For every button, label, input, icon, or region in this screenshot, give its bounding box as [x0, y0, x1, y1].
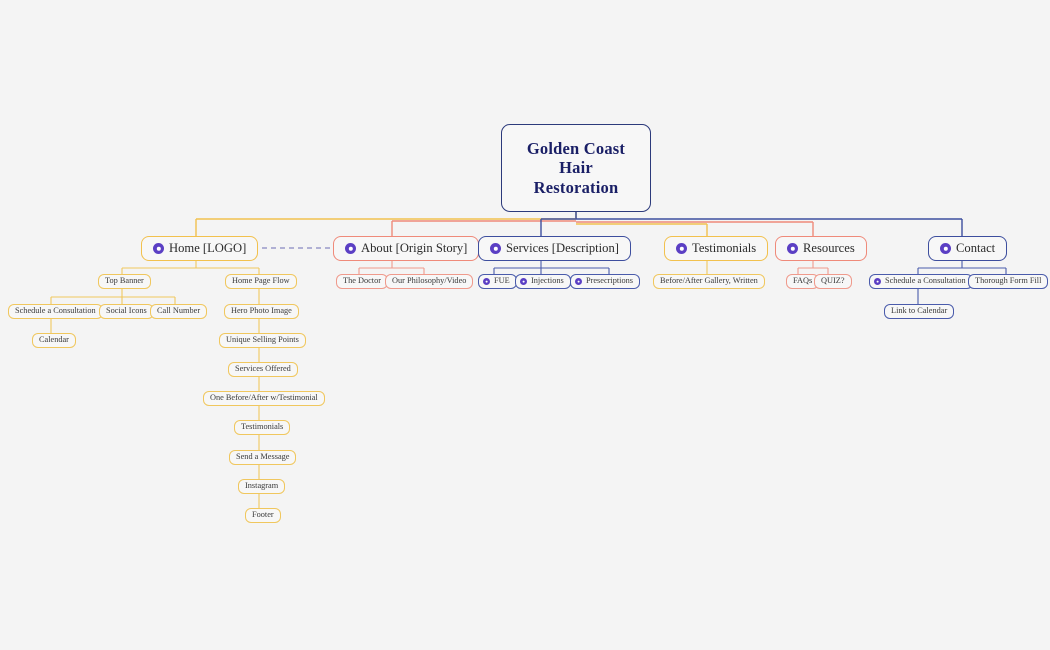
- node-label-testimonials-flow: Testimonials: [241, 423, 283, 432]
- node-footer[interactable]: Footer: [245, 508, 281, 523]
- root-title-line-1: Golden Coast: [527, 140, 625, 157]
- node-label-send-a-message: Send a Message: [236, 453, 289, 462]
- branch-node-contact[interactable]: Contact: [928, 236, 1007, 261]
- branch-node-home[interactable]: Home [LOGO]: [141, 236, 258, 261]
- node-our-philosophy-video[interactable]: Our Philosophy/Video: [385, 274, 473, 289]
- node-social-icons[interactable]: Social Icons: [99, 304, 154, 319]
- node-label-unique-selling-points: Unique Selling Points: [226, 336, 299, 345]
- node-home-page-flow[interactable]: Home Page Flow: [225, 274, 297, 289]
- branch-label-testimonials: Testimonials: [692, 242, 756, 255]
- node-label-quiz: QUIZ?: [821, 277, 845, 286]
- root-title-line-2: Hair: [559, 159, 593, 176]
- node-label-instagram: Instagram: [245, 482, 278, 491]
- branch-label-about: About [Origin Story]: [361, 242, 467, 255]
- node-link-to-calendar[interactable]: Link to Calendar: [884, 304, 954, 319]
- node-injections[interactable]: Injections: [515, 274, 571, 289]
- node-send-a-message[interactable]: Send a Message: [229, 450, 296, 465]
- node-label-services-offered: Services Offered: [235, 365, 291, 374]
- gear-icon: [874, 278, 881, 285]
- node-fue[interactable]: FUE: [478, 274, 517, 289]
- node-instagram[interactable]: Instagram: [238, 479, 285, 494]
- node-schedule-a-consultation-contact[interactable]: Schedule a Consultation: [869, 274, 973, 289]
- branch-label-contact: Contact: [956, 242, 995, 255]
- node-label-one-before-after-with-testimonial: One Before/After w/Testimonial: [210, 394, 318, 403]
- node-label-schedule-a-consultation-home: Schedule a Consultation: [15, 307, 96, 316]
- node-label-faqs: FAQs: [793, 277, 812, 286]
- node-label-our-philosophy-video: Our Philosophy/Video: [392, 277, 466, 286]
- node-schedule-a-consultation-home[interactable]: Schedule a Consultation: [8, 304, 103, 319]
- branch-label-home: Home [LOGO]: [169, 242, 246, 255]
- node-label-top-banner: Top Banner: [105, 277, 144, 286]
- branch-node-resources[interactable]: Resources: [775, 236, 867, 261]
- gear-icon: [520, 278, 527, 285]
- root-node-golden-coast-hair-restoration[interactable]: Golden Coast Hair Restoration: [501, 124, 651, 212]
- sitemap-canvas: Golden Coast Hair Restoration Home [LOGO…: [0, 0, 1050, 650]
- node-label-calendar: Calendar: [39, 336, 69, 345]
- gear-icon: [483, 278, 490, 285]
- node-label-link-to-calendar: Link to Calendar: [891, 307, 947, 316]
- gear-icon: [787, 243, 798, 254]
- root-title-line-3: Restoration: [534, 179, 619, 196]
- gear-icon: [490, 243, 501, 254]
- node-label-social-icons: Social Icons: [106, 307, 147, 316]
- node-label-fue: FUE: [494, 277, 510, 286]
- branch-label-resources: Resources: [803, 242, 855, 255]
- node-label-home-page-flow: Home Page Flow: [232, 277, 290, 286]
- node-label-the-doctor: The Doctor: [343, 277, 381, 286]
- node-label-hero-photo-image: Hero Photo Image: [231, 307, 292, 316]
- node-label-call-number: Call Number: [157, 307, 200, 316]
- gear-icon: [575, 278, 582, 285]
- node-label-thorough-form-fill: Thorough Form Fill: [975, 277, 1041, 286]
- gear-icon: [676, 243, 687, 254]
- node-thorough-form-fill[interactable]: Thorough Form Fill: [968, 274, 1048, 289]
- node-call-number[interactable]: Call Number: [150, 304, 207, 319]
- node-services-offered[interactable]: Services Offered: [228, 362, 298, 377]
- node-label-footer: Footer: [252, 511, 274, 520]
- gear-icon: [153, 243, 164, 254]
- node-hero-photo-image[interactable]: Hero Photo Image: [224, 304, 299, 319]
- node-testimonials-flow[interactable]: Testimonials: [234, 420, 290, 435]
- node-label-before-after-gallery-written: Before/After Gallery, Written: [660, 277, 758, 286]
- connector-edges: [0, 0, 1050, 650]
- node-before-after-gallery-written[interactable]: Before/After Gallery, Written: [653, 274, 765, 289]
- node-top-banner[interactable]: Top Banner: [98, 274, 151, 289]
- node-quiz[interactable]: QUIZ?: [814, 274, 852, 289]
- node-label-presecriptions: Presecriptions: [586, 277, 633, 286]
- gear-icon: [940, 243, 951, 254]
- node-presecriptions[interactable]: Presecriptions: [570, 274, 640, 289]
- branch-node-testimonials[interactable]: Testimonials: [664, 236, 768, 261]
- branch-label-services: Services [Description]: [506, 242, 619, 255]
- node-calendar[interactable]: Calendar: [32, 333, 76, 348]
- node-unique-selling-points[interactable]: Unique Selling Points: [219, 333, 306, 348]
- branch-node-about[interactable]: About [Origin Story]: [333, 236, 479, 261]
- branch-node-services[interactable]: Services [Description]: [478, 236, 631, 261]
- node-label-schedule-a-consultation-contact: Schedule a Consultation: [885, 277, 966, 286]
- gear-icon: [345, 243, 356, 254]
- node-label-injections: Injections: [531, 277, 564, 286]
- node-the-doctor[interactable]: The Doctor: [336, 274, 388, 289]
- node-one-before-after-with-testimonial[interactable]: One Before/After w/Testimonial: [203, 391, 325, 406]
